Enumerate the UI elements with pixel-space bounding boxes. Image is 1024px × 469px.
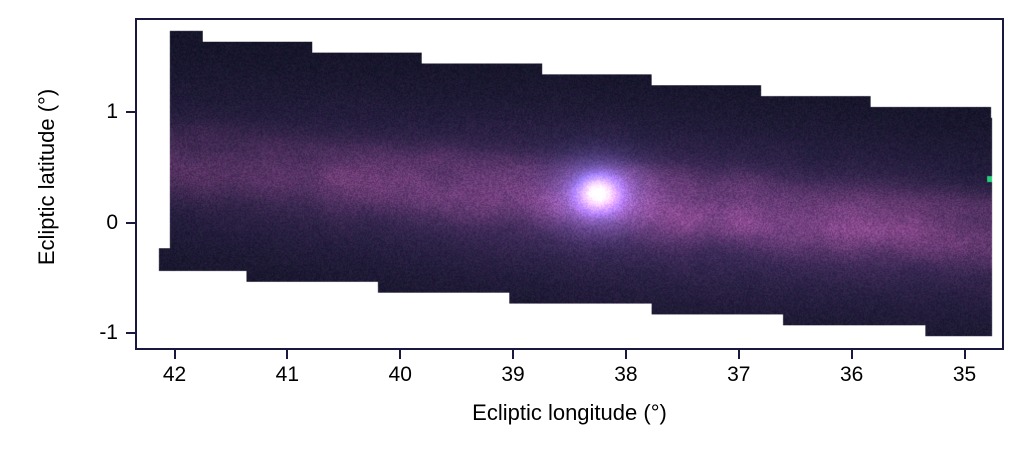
y-axis-title: Ecliptic latitude (°) (34, 11, 60, 343)
figure-root: 4241403938373635 10-1 Ecliptic longitude… (0, 0, 1024, 469)
x-tick-label-37: 37 (709, 362, 769, 388)
x-tick-42 (174, 350, 176, 359)
x-tick-40 (399, 350, 401, 359)
x-tick-38 (625, 350, 627, 359)
plot-area (135, 18, 1004, 350)
x-tick-label-39: 39 (483, 362, 543, 388)
y-tick-label-1: 1 (62, 99, 118, 125)
x-tick-label-41: 41 (257, 362, 317, 388)
x-tick-label-40: 40 (370, 362, 430, 388)
y-tick-label-0: 0 (62, 210, 118, 236)
x-tick-label-42: 42 (145, 362, 205, 388)
y-tick-1 (126, 111, 135, 113)
x-tick-label-35: 35 (935, 362, 995, 388)
y-tick--1 (126, 332, 135, 334)
y-tick-label--1: -1 (62, 320, 118, 346)
y-tick-0 (126, 222, 135, 224)
x-tick-37 (738, 350, 740, 359)
sky-image-heatmap (137, 20, 1002, 348)
x-tick-39 (512, 350, 514, 359)
x-tick-35 (964, 350, 966, 359)
x-tick-36 (851, 350, 853, 359)
x-tick-label-36: 36 (822, 362, 882, 388)
x-axis-title: Ecliptic longitude (°) (135, 400, 1004, 426)
x-tick-label-38: 38 (596, 362, 656, 388)
x-tick-41 (286, 350, 288, 359)
